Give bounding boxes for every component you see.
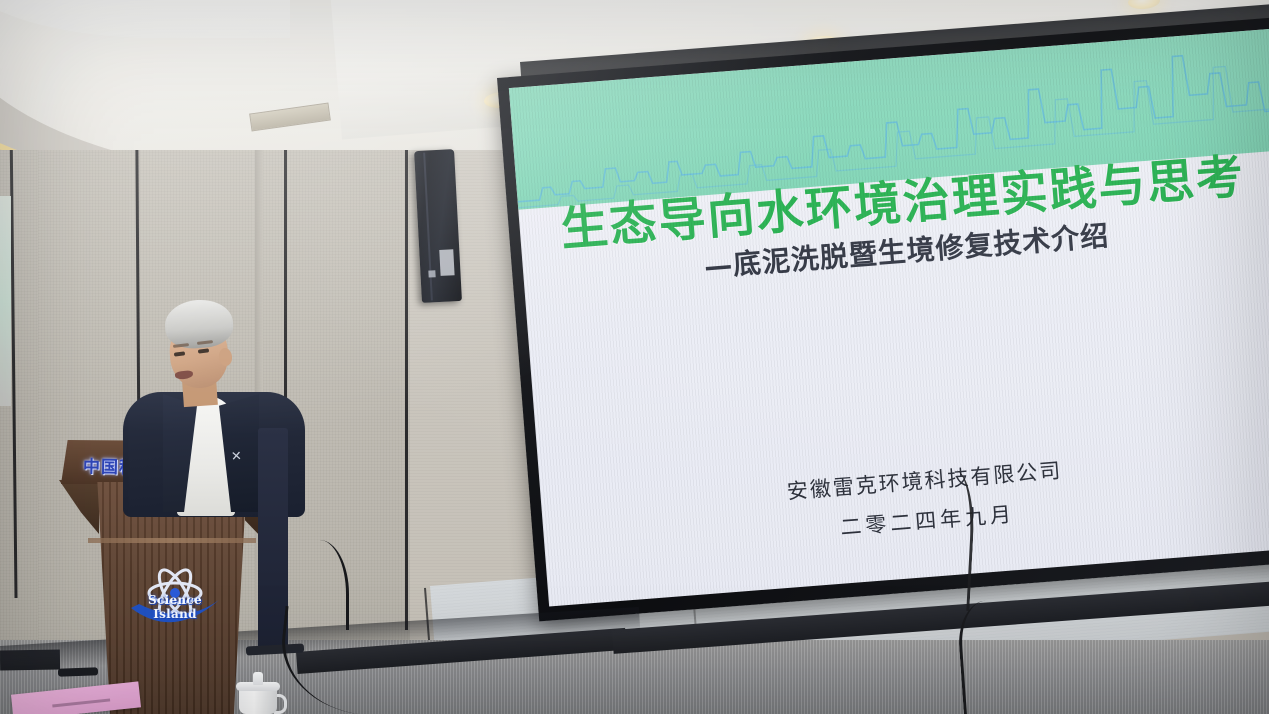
pink-card-text-line (52, 698, 110, 707)
conference-room-photo: 生态导向水环境治理实践与思考 —底泥洗脱暨生境修复技术介绍 安徽雷克环境科技有限… (0, 0, 1269, 714)
mic-stand-base (58, 667, 98, 676)
lectern-trim-band (88, 538, 256, 543)
lectern-left-face (59, 480, 99, 534)
science-island-logo-text: Science Island (125, 593, 225, 621)
left-edge-green-glimpse (0, 196, 11, 406)
jacket-emblem-icon: ✕ (231, 451, 254, 463)
floor-cable-3 (956, 598, 1037, 714)
floor-cable-4 (926, 469, 976, 611)
speaker-label (439, 249, 454, 276)
slide-surface[interactable]: 生态导向水环境治理实践与思考 —底泥洗脱暨生境修复技术介绍 安徽雷克环境科技有限… (509, 29, 1269, 607)
led-presentation-screen[interactable]: 生态导向水环境治理实践与思考 —底泥洗脱暨生境修复技术介绍 安徽雷克环境科技有限… (497, 17, 1269, 622)
wall-mounted-speaker (414, 149, 462, 303)
speaker-edge-highlight (423, 153, 433, 301)
teacup (236, 672, 282, 714)
wall-seam-4 (405, 130, 408, 630)
science-island-logo: Science Island (125, 560, 225, 638)
teacup-lid-knob (253, 672, 263, 685)
speaker-badge (428, 270, 435, 277)
